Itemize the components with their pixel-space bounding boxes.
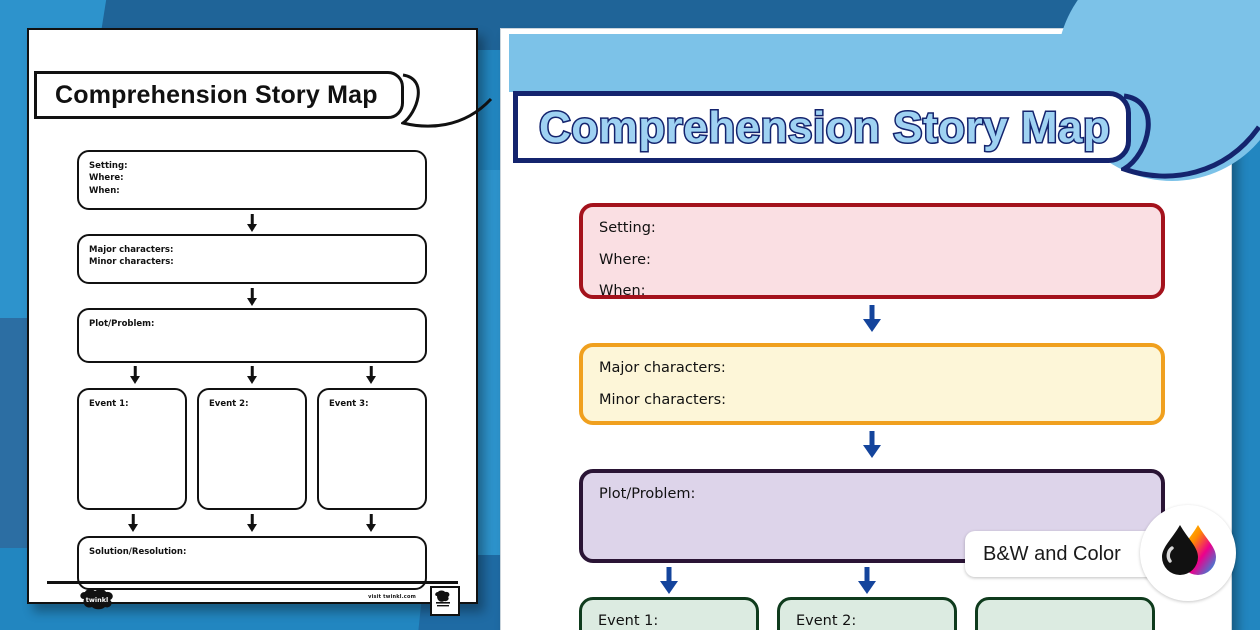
bw-characters-line-1: Major characters:: [89, 244, 425, 256]
bw-characters-line-2: Minor characters:: [89, 256, 425, 268]
color-arrow-down-icon-2: [857, 431, 887, 461]
color-box-event-3[interactable]: [975, 597, 1155, 630]
color-event-1-label: Event 1:: [598, 614, 756, 629]
color-title-banner: Comprehension Story Map: [501, 91, 1231, 163]
bw-arrow-down-icon-2: [242, 288, 262, 308]
twinkl-stamp-icon: [430, 586, 460, 616]
bw-banner-tail: [401, 73, 493, 135]
color-arrow-down-icon-1: [857, 305, 887, 335]
page-root: Comprehension Story Map Setting: Where: …: [0, 0, 1260, 630]
color-setting-line-1: Setting:: [599, 221, 1161, 236]
bw-footer-url: visit twinkl.com: [368, 594, 416, 600]
color-box-event-1[interactable]: Event 1:: [579, 597, 759, 630]
color-box-characters[interactable]: Major characters: Minor characters:: [579, 343, 1165, 425]
bw-arrow-down-icon-7: [242, 514, 262, 534]
bw-and-color-label: B&W and Color: [983, 543, 1121, 566]
color-event-2-label: Event 2:: [796, 614, 954, 629]
bw-box-plot[interactable]: Plot/Problem:: [77, 308, 427, 363]
bw-plot-line-1: Plot/Problem:: [89, 318, 425, 330]
bw-box-event-3[interactable]: Event 3:: [317, 388, 427, 510]
twinkl-logo-icon: twinkl: [77, 588, 117, 610]
svg-text:twinkl: twinkl: [86, 596, 109, 604]
bw-box-event-2[interactable]: Event 2:: [197, 388, 307, 510]
bw-box-event-1[interactable]: Event 1:: [77, 388, 187, 510]
color-characters-line-2: Minor characters:: [599, 393, 1161, 408]
bw-arrow-down-icon-6: [123, 514, 143, 534]
bw-title-banner: Comprehension Story Map: [29, 71, 476, 119]
bw-arrow-down-icon-3: [125, 366, 145, 386]
bw-event-2-label: Event 2:: [209, 398, 305, 410]
bw-event-3-label: Event 3:: [329, 398, 425, 410]
bw-box-setting[interactable]: Setting: Where: When:: [77, 150, 427, 210]
bw-arrow-down-icon-1: [242, 214, 262, 234]
bw-setting-line-1: Setting:: [89, 160, 425, 172]
bw-arrow-down-icon-4: [242, 366, 262, 386]
bw-box-characters[interactable]: Major characters: Minor characters:: [77, 234, 427, 284]
color-box-setting[interactable]: Setting: Where: When:: [579, 203, 1165, 299]
bw-setting-line-2: Where:: [89, 172, 425, 184]
bw-solution-line-1: Solution/Resolution:: [89, 546, 425, 558]
color-setting-line-3: When:: [599, 284, 1161, 299]
bw-footer-divider: [47, 581, 458, 584]
bw-arrow-down-icon-5: [361, 366, 381, 386]
bw-event-1-label: Event 1:: [89, 398, 185, 410]
bw-arrow-down-icon-8: [361, 514, 381, 534]
color-page-title: Comprehension Story Map: [539, 91, 1110, 163]
color-characters-line-1: Major characters:: [599, 361, 1161, 376]
bw-page-title: Comprehension Story Map: [55, 71, 378, 119]
bw-setting-line-3: When:: [89, 185, 425, 197]
worksheet-bw[interactable]: Comprehension Story Map Setting: Where: …: [27, 28, 478, 604]
color-box-event-2[interactable]: Event 2:: [777, 597, 957, 630]
color-setting-line-2: Where:: [599, 253, 1161, 268]
ink-drop-icon: [1140, 505, 1236, 601]
color-arrow-down-icon-4: [852, 567, 882, 597]
color-plot-line-1: Plot/Problem:: [599, 487, 1161, 502]
color-banner-tail: [1121, 93, 1260, 189]
color-arrow-down-icon-3: [654, 567, 684, 597]
